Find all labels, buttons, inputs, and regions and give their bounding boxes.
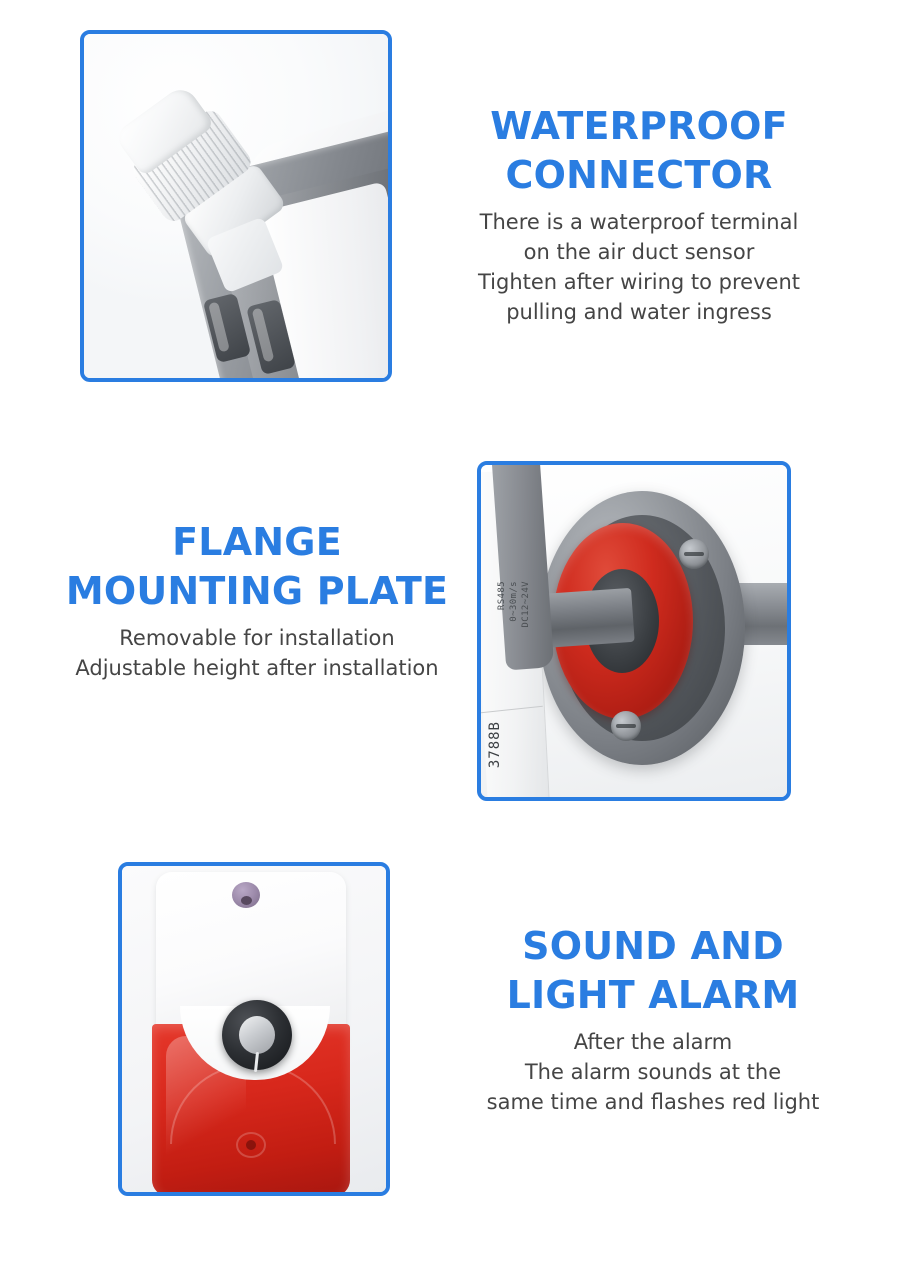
feature-body-line-2: Adjustable height after installation [42,654,472,684]
text-block-flange-mounting-plate: FLANGE MOUNTING PLATE Removable for inst… [42,518,472,684]
photo-frame-sound-and-light-alarm [118,862,390,1196]
feature-body-line-2: on the air duct sensor [424,238,854,268]
feature-heading-line-1: WATERPROOF [424,102,854,151]
feature-body-line-1: After the alarm [438,1028,868,1058]
feature-body-flange-mounting-plate: Removable for installation Adjustable he… [42,624,472,684]
flange-screw-top [679,539,709,569]
feature-heading-line-2: LIGHT ALARM [438,971,868,1020]
speaker-dome-hole [241,896,252,905]
feature-body-sound-and-light-alarm: After the alarm The alarm sounds at the … [438,1028,868,1117]
volume-knob-face [239,1016,275,1054]
feature-heading-line-2: CONNECTOR [424,151,854,200]
product-feature-page: WATERPROOF CONNECTOR There is a waterpro… [0,0,900,1261]
flange-screw-bottom [611,711,641,741]
product-photo-sound-and-light-alarm [122,866,386,1192]
spec-label-range: 0~30m/s [509,581,519,622]
screw-slot [684,552,704,556]
photo-frame-flange-mounting-plate: DC12~24V 0~30m/s RS485 3788B [477,461,791,801]
feature-body-line-1: There is a waterproof terminal [424,208,854,238]
text-block-sound-and-light-alarm: SOUND AND LIGHT ALARM After the alarm Th… [438,922,868,1118]
feature-heading-line-1: SOUND AND [438,922,868,971]
feature-body-line-3: same time and flashes red light [438,1088,868,1118]
spec-label-protocol: RS485 [497,581,507,610]
label-divider [481,706,543,713]
text-block-waterproof-connector: WATERPROOF CONNECTOR There is a waterpro… [424,102,854,328]
lamp-center-dot [246,1140,256,1150]
feature-heading-line-2: MOUNTING PLATE [42,567,472,616]
feature-body-line-1: Removable for installation [42,624,472,654]
feature-body-line-2: The alarm sounds at the [438,1058,868,1088]
product-photo-flange-mounting-plate: DC12~24V 0~30m/s RS485 3788B [481,465,787,797]
spec-label-model-code: 3788B [487,721,503,768]
feature-body-waterproof-connector: There is a waterproof terminal on the ai… [424,208,854,327]
spec-label-voltage: DC12~24V [521,581,531,628]
screw-slot [616,724,636,728]
feature-body-line-4: pulling and water ingress [424,298,854,328]
feature-heading-line-1: FLANGE [42,518,472,567]
product-photo-waterproof-connector [84,34,388,378]
feature-body-line-3: Tighten after wiring to prevent [424,268,854,298]
photo-frame-waterproof-connector [80,30,392,382]
